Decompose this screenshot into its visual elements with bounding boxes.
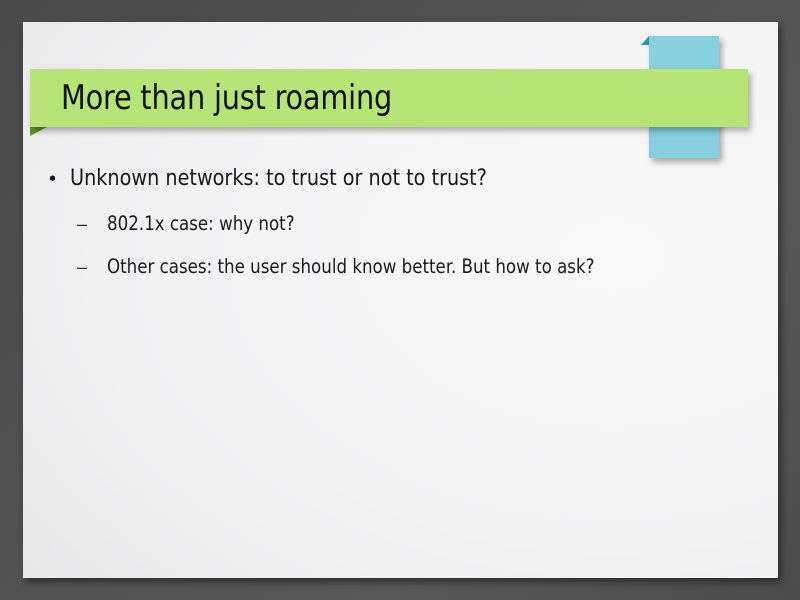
bullet-text: 802.1x case: why not? [107,213,295,235]
title-banner-fold-icon [30,127,47,136]
slide-title: More than just roaming [30,81,392,115]
slide-body: • Unknown networks: to trust or not to t… [45,140,765,279]
bullet-marker-icon: – [77,215,107,233]
slide-canvas: More than just roaming • Unknown network… [23,22,778,578]
bullet-item: – Other cases: the user should know bett… [45,256,765,278]
bullet-item: • Unknown networks: to trust or not to t… [45,166,765,192]
bullet-marker-icon: – [77,258,107,276]
bullet-text: Unknown networks: to trust or not to tru… [70,166,487,192]
title-banner: More than just roaming [30,69,748,127]
bullet-item: – 802.1x case: why not? [45,213,765,235]
presentation-viewer: More than just roaming • Unknown network… [0,0,800,600]
bullet-text: Other cases: the user should know better… [107,256,594,278]
bullet-marker-icon: • [45,169,70,189]
accent-block-fold-icon [641,36,649,45]
